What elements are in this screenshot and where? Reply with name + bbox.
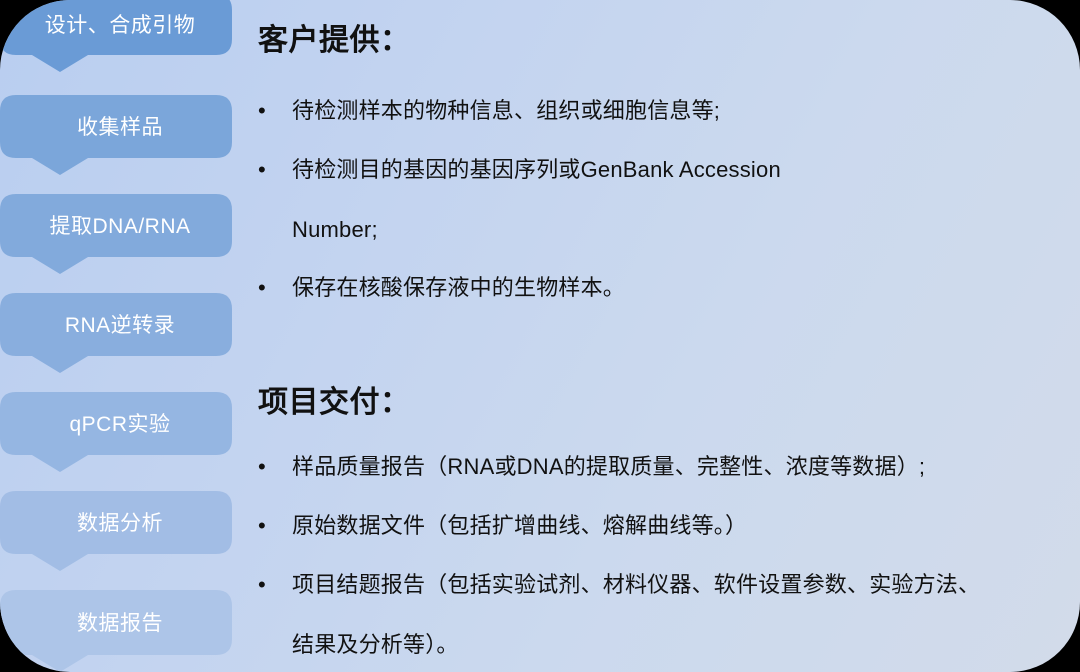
bullet-text: 项目结题报告（包括实验试剂、材料仪器、软件设置参数、实验方法、结果及分析等）。 <box>292 570 1070 660</box>
bullet-text: 待检测目的基因的基因序列或GenBank AccessionNumber; <box>292 155 1070 245</box>
bullet-marker-icon: • <box>258 96 292 126</box>
bullet-item: •待检测样本的物种信息、组织或细胞信息等; <box>258 96 1070 126</box>
flow-step-4[interactable]: RNA逆转录 <box>0 293 232 373</box>
bullet-line: 保存在核酸保存液中的生物样本。 <box>292 275 625 300</box>
bullet-marker-icon: • <box>258 570 292 600</box>
bullet-text: 样品质量报告（RNA或DNA的提取质量、完整性、浓度等数据）; <box>292 452 1070 482</box>
bullet-marker-icon: • <box>258 452 292 482</box>
flow-step-5[interactable]: qPCR实验 <box>0 392 232 472</box>
bullet-text: 保存在核酸保存液中的生物样本。 <box>292 273 1070 303</box>
flow-step-3[interactable]: 提取DNA/RNA <box>0 194 232 274</box>
flow-step-2[interactable]: 收集样品 <box>0 95 232 175</box>
bullet-line: 结果及分析等）。 <box>292 630 1070 660</box>
bullet-line: 项目结题报告（包括实验试剂、材料仪器、软件设置参数、实验方法、 <box>292 572 980 597</box>
bullet-line: Number; <box>292 215 1070 245</box>
bullet-marker-icon: • <box>258 273 292 303</box>
bullet-item: •待检测目的基因的基因序列或GenBank AccessionNumber; <box>258 155 1070 245</box>
bullet-item: •保存在核酸保存液中的生物样本。 <box>258 273 1070 303</box>
bullet-item: •样品质量报告（RNA或DNA的提取质量、完整性、浓度等数据）; <box>258 452 1070 482</box>
flow-step-1[interactable]: 设计、合成引物 <box>0 0 232 72</box>
bullet-text: 原始数据文件（包括扩增曲线、熔解曲线等。） <box>292 511 1070 541</box>
flow-step-label: RNA逆转录 <box>0 315 232 336</box>
flow-step-label: 设计、合成引物 <box>0 15 232 36</box>
bullet-marker-icon: • <box>258 155 292 185</box>
bullet-line: 待检测目的基因的基因序列或GenBank Accession <box>292 157 781 182</box>
flow-step-7[interactable]: 数据报告 <box>0 590 232 672</box>
section-title-1: 客户提供： <box>258 26 411 56</box>
flow-step-label: 收集样品 <box>0 117 232 138</box>
bullet-item: •项目结题报告（包括实验试剂、材料仪器、软件设置参数、实验方法、结果及分析等）。 <box>258 570 1070 660</box>
section-title-2: 项目交付： <box>258 388 411 418</box>
slide-panel: 设计、合成引物收集样品提取DNA/RNARNA逆转录qPCR实验数据分析数据报告… <box>0 0 1080 672</box>
flow-step-label: qPCR实验 <box>0 414 232 435</box>
content-area: 客户提供：•待检测样本的物种信息、组织或细胞信息等;•待检测目的基因的基因序列或… <box>258 0 1070 672</box>
bullet-line: 原始数据文件（包括扩增曲线、熔解曲线等。） <box>292 513 747 538</box>
flow-step-6[interactable]: 数据分析 <box>0 491 232 571</box>
bullet-item: •原始数据文件（包括扩增曲线、熔解曲线等。） <box>258 511 1070 541</box>
bullet-marker-icon: • <box>258 511 292 541</box>
process-flow: 设计、合成引物收集样品提取DNA/RNARNA逆转录qPCR实验数据分析数据报告 <box>0 0 232 672</box>
flow-step-label: 提取DNA/RNA <box>0 216 232 237</box>
flow-step-label: 数据报告 <box>0 613 232 634</box>
flow-step-label: 数据分析 <box>0 513 232 534</box>
bullet-line: 样品质量报告（RNA或DNA的提取质量、完整性、浓度等数据）; <box>292 454 925 479</box>
bullet-text: 待检测样本的物种信息、组织或细胞信息等; <box>292 96 1070 126</box>
bullet-line: 待检测样本的物种信息、组织或细胞信息等; <box>292 98 720 123</box>
